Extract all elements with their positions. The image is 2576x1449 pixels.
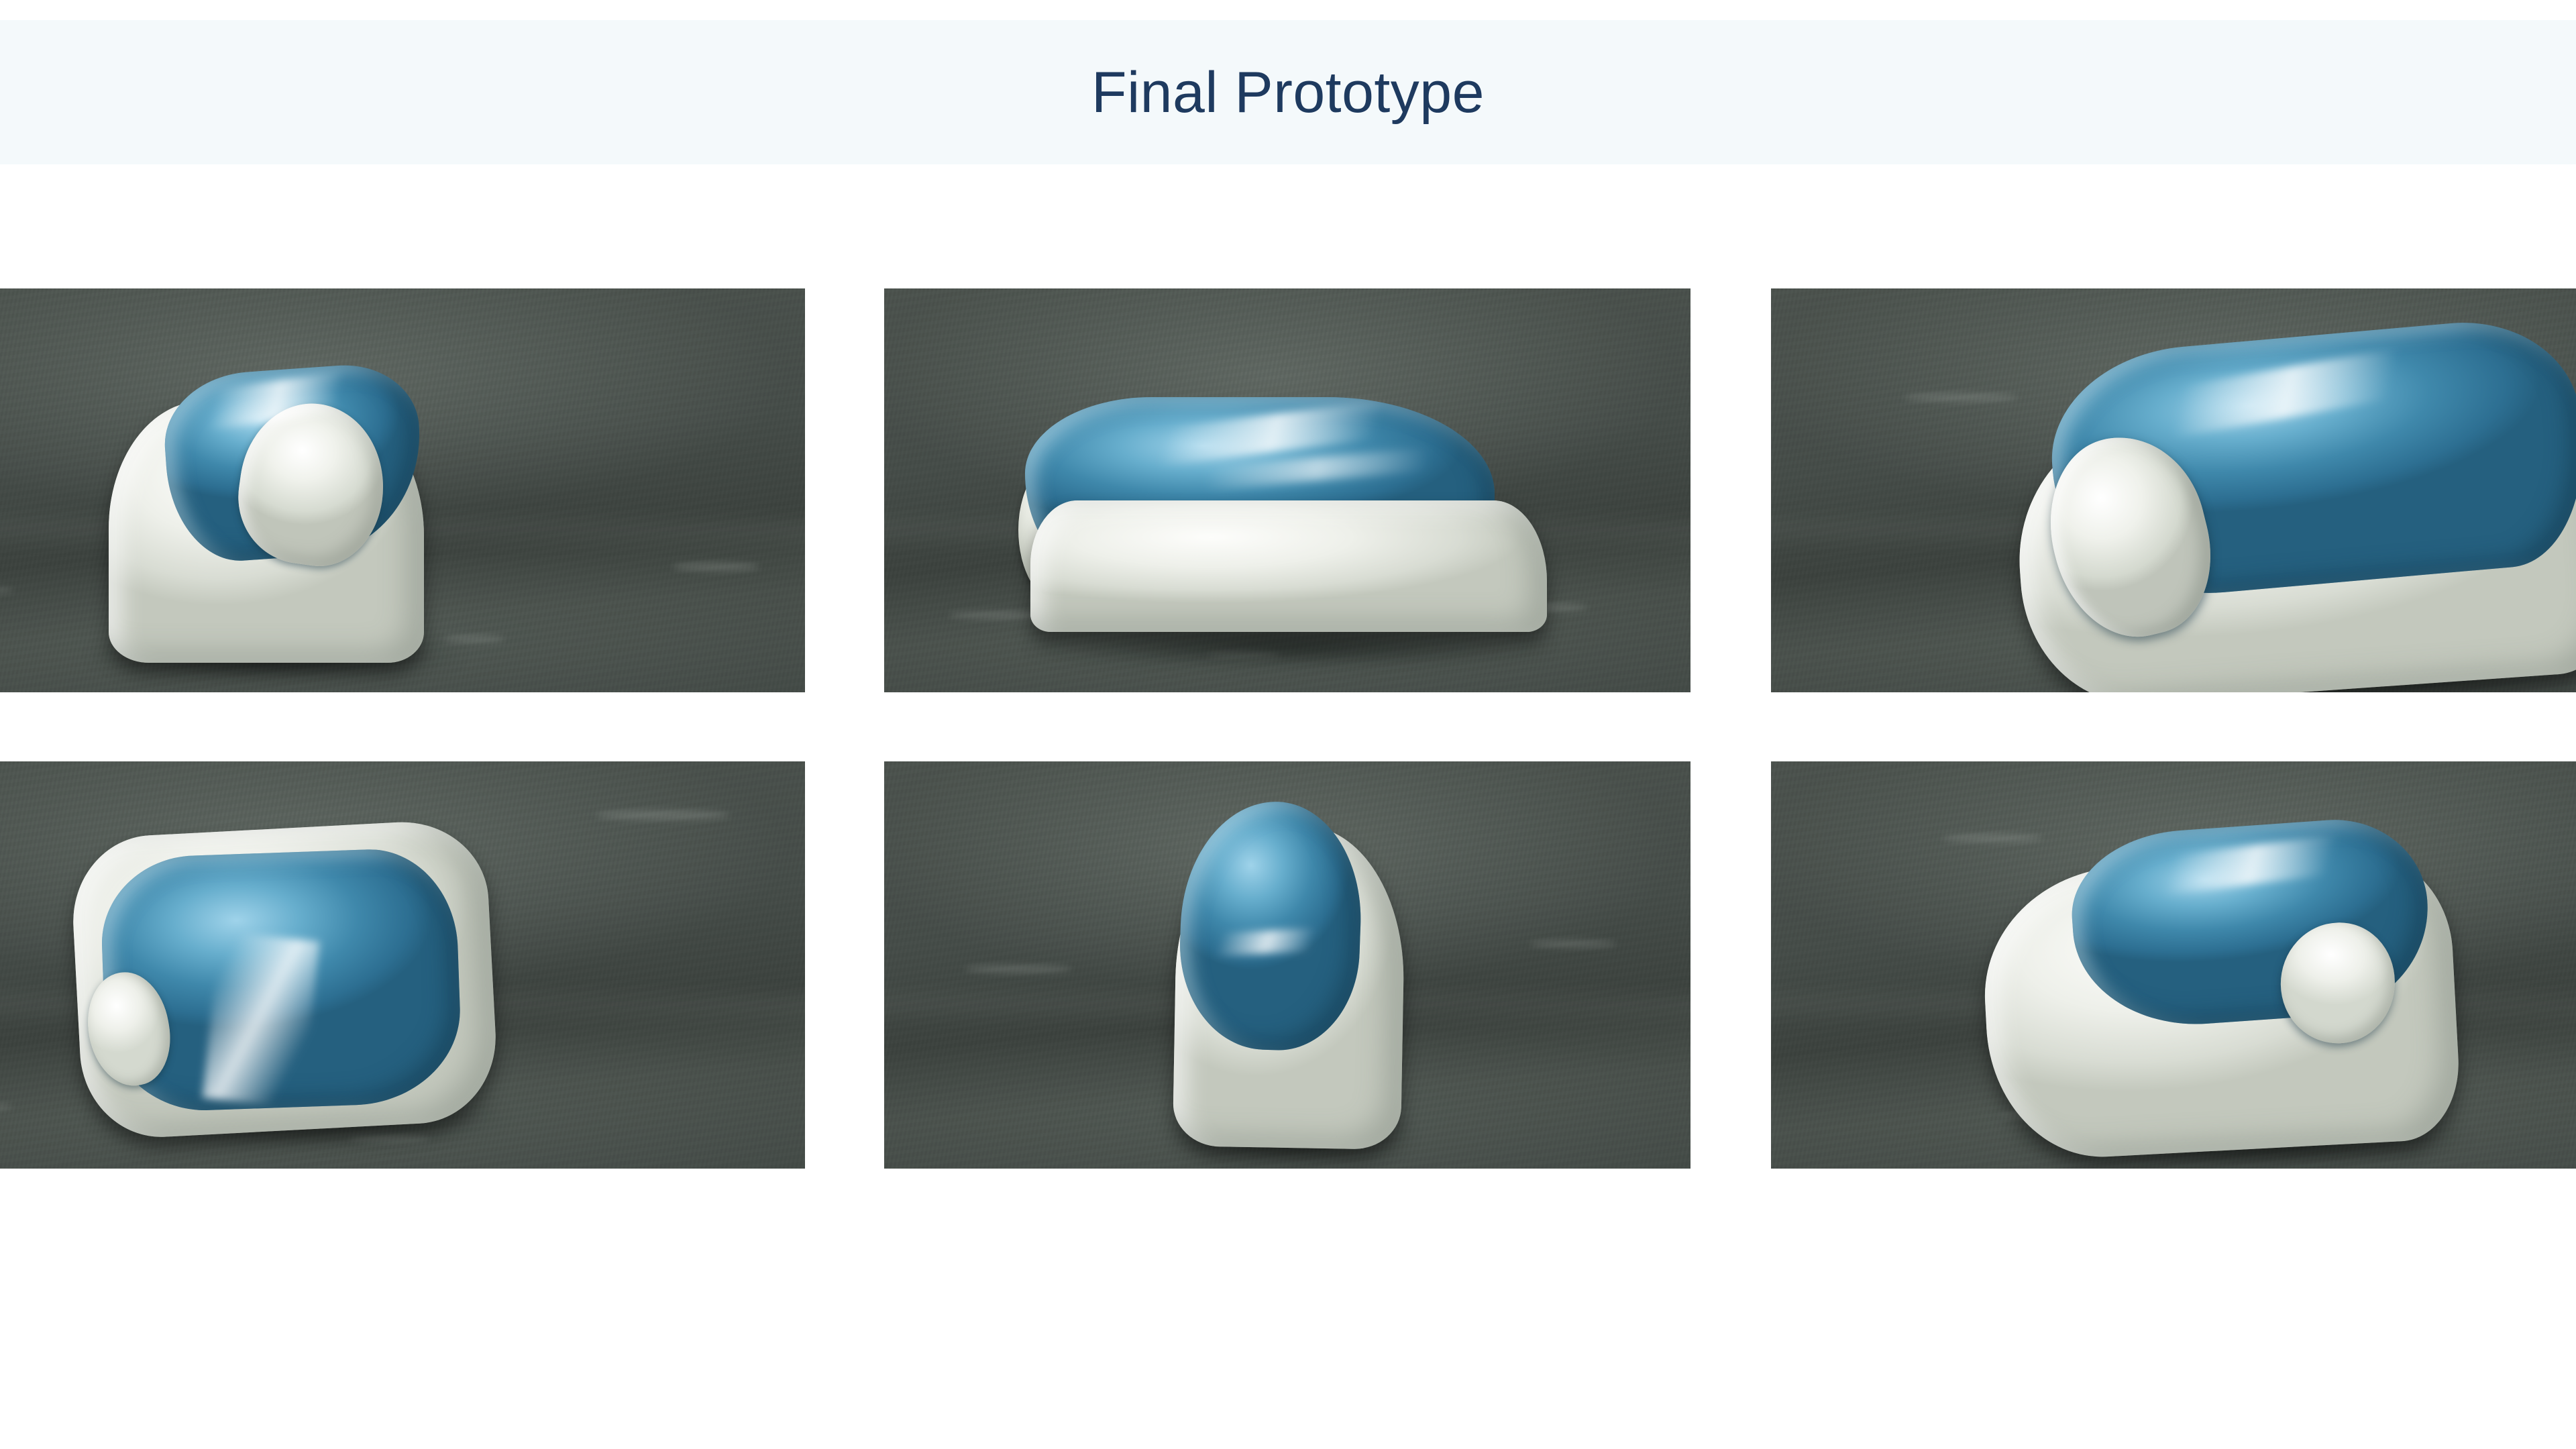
gallery-tile-vertical-slim-view[interactable] — [884, 761, 1690, 1169]
prototype-object-front-standing — [97, 369, 445, 664]
body-shell — [1030, 500, 1547, 632]
contact-shadow — [1025, 629, 1555, 667]
gallery-tile-front-standing-view[interactable] — [0, 288, 805, 692]
prototype-object-side-profile — [1018, 393, 1562, 661]
gallery-tile-top-down-view[interactable] — [0, 761, 805, 1169]
prototype-object-rear-three-quarter — [1972, 815, 2482, 1164]
gallery-tile-side-profile-view[interactable] — [884, 288, 1690, 692]
prototype-object-top-down — [63, 808, 533, 1144]
prototype-gallery-page: Final Prototype — [0, 0, 2576, 1449]
blue-accent-cap — [1177, 798, 1365, 1053]
gallery-tile-rear-three-quarter-view[interactable] — [1771, 761, 2576, 1169]
image-gallery-grid — [0, 288, 2576, 1169]
prototype-object-high-three-quarter — [1992, 329, 2576, 692]
page-header: Final Prototype — [0, 20, 2576, 164]
gallery-tile-high-three-quarter-view[interactable] — [1771, 288, 2576, 692]
prototype-object-vertical-slim — [1166, 802, 1421, 1164]
page-title: Final Prototype — [1091, 64, 1485, 121]
